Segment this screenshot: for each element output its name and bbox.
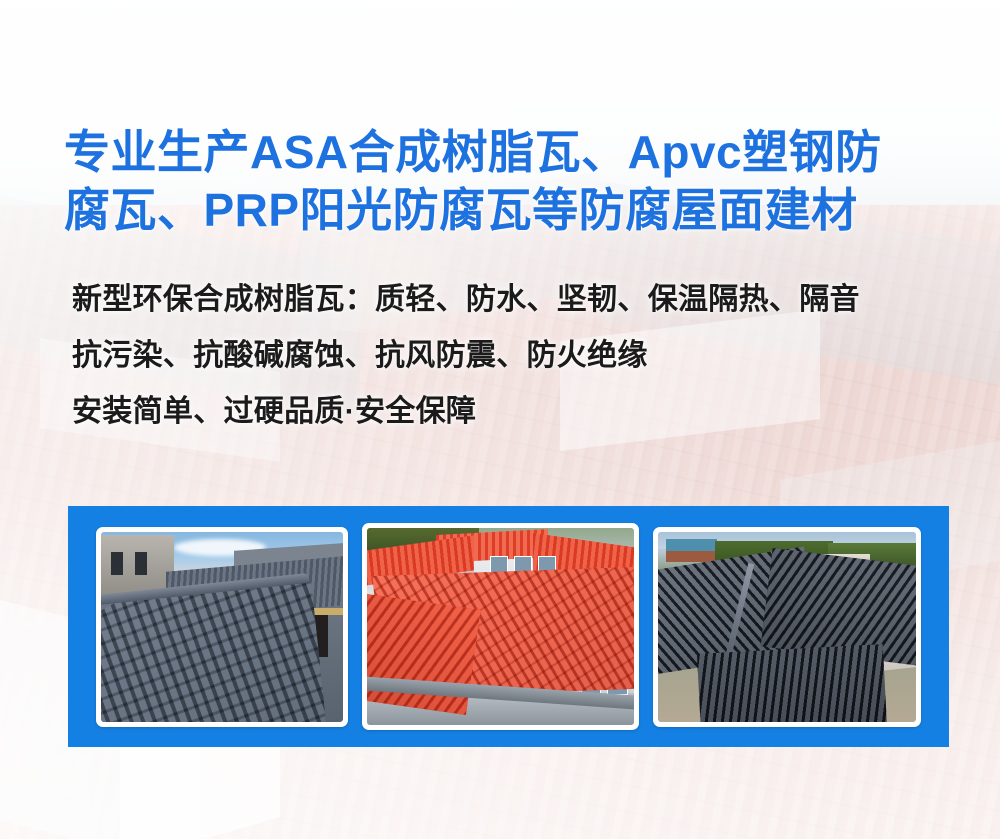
headline-line-2: 腐瓦、PRP阳光防腐瓦等防腐屋面建材: [64, 181, 954, 239]
dark-roof-plane-front: [697, 644, 887, 721]
grey-resin-tile-roof-photo[interactable]: [101, 532, 343, 722]
window: [111, 552, 123, 575]
photo-frame-1[interactable]: [96, 527, 348, 727]
photo-gallery-panel: [68, 506, 949, 747]
photo-frame-2[interactable]: [362, 523, 639, 730]
subheadline-line-3: 安装简单、过硬品质·安全保障: [72, 384, 972, 440]
headline: 专业生产ASA合成树脂瓦、Apvc塑钢防 腐瓦、PRP阳光防腐瓦等防腐屋面建材: [64, 123, 954, 239]
subheadline-line-2: 抗污染、抗酸碱腐蚀、抗风防震、防火绝缘: [72, 328, 972, 384]
photo-frame-3[interactable]: [653, 527, 921, 727]
subheadline: 新型环保合成树脂瓦：质轻、防水、坚韧、保温隔热、隔音 抗污染、抗酸碱腐蚀、抗风防…: [72, 272, 972, 440]
headline-line-1: 专业生产ASA合成树脂瓦、Apvc塑钢防: [64, 123, 954, 181]
product-banner: 专业生产ASA合成树脂瓦、Apvc塑钢防 腐瓦、PRP阳光防腐瓦等防腐屋面建材 …: [0, 0, 1000, 839]
subheadline-line-1: 新型环保合成树脂瓦：质轻、防水、坚韧、保温隔热、隔音: [72, 272, 972, 328]
dark-resin-tile-roof-photo[interactable]: [658, 532, 916, 722]
window: [135, 552, 147, 575]
banner-content: 专业生产ASA合成树脂瓦、Apvc塑钢防 腐瓦、PRP阳光防腐瓦等防腐屋面建材 …: [0, 0, 1000, 839]
red-resin-tile-roof-photo[interactable]: [367, 528, 634, 725]
